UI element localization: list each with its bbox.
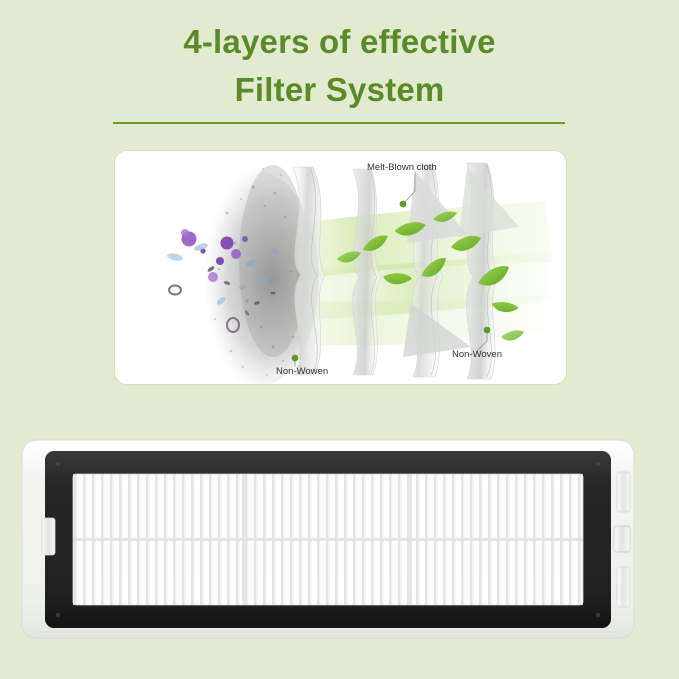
- page-title: 4-layers of effective Filter System: [0, 18, 679, 114]
- filter-layer-2: [352, 169, 381, 375]
- dust-cloud: [166, 165, 319, 384]
- headline-line-2: Filter System: [0, 66, 679, 114]
- headline-line-1: 4-layers of effective: [0, 18, 679, 66]
- label-non-wowen: Non-Wowen: [276, 366, 328, 377]
- filter-layers-diagram: Melt-Blown cloth Non-Wowen Non-Woven: [114, 150, 567, 385]
- hepa-filter-product-photo: [20, 434, 660, 650]
- filter-clip-left: [42, 518, 55, 555]
- hepa-filter-illustration: [20, 434, 660, 650]
- label-melt-blown-cloth: Melt-Blown cloth: [367, 162, 437, 173]
- label-non-woven: Non-Woven: [452, 349, 502, 360]
- title-divider: [113, 122, 565, 124]
